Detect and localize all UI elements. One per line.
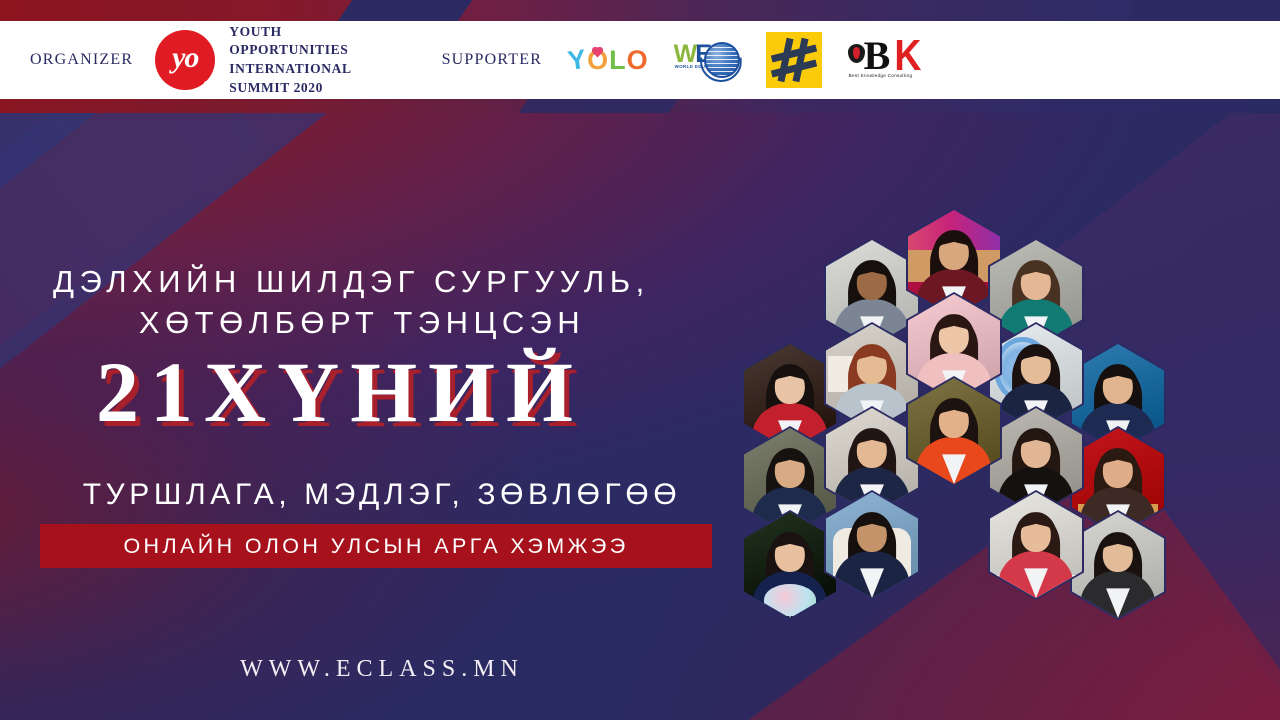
sub-headline: ТУРШЛАГА, МЭДЛЭГ, ЗӨВЛӨГӨӨ (22, 478, 742, 512)
collage-hexagon (824, 490, 920, 600)
collage-hexagon (906, 376, 1002, 486)
collage-photo (990, 492, 1082, 598)
ribbon-text: ОНЛАЙН ОЛОН УЛСЫН АРГА ХЭМЖЭЭ (123, 534, 628, 559)
bouquet-shape (764, 584, 816, 616)
headline-block: ДЭЛХИЙН ШИЛДЭГ СУРГУУЛЬ, ХӨТӨЛБӨРТ ТЭНЦС… (0, 0, 760, 720)
bk-consulting-logo-icon: B K Best Knowledge Consulting (846, 32, 926, 88)
shield-icon (848, 44, 865, 63)
hashtag-logo-icon (766, 32, 822, 88)
bk-tagline: Best Knowledge Consulting (849, 73, 913, 78)
participant-photo-collage (742, 196, 1270, 666)
collage-photo (826, 492, 918, 598)
headline-line-2: ХӨТӨЛБӨРТ ТЭНЦСЭН (53, 303, 743, 344)
bk-letter-b: B (864, 36, 891, 76)
big-number-headline: 21ХҮНИЙ (96, 344, 736, 440)
collage-hexagon (988, 490, 1084, 600)
headline-line-1: ДЭЛХИЙН ШИЛДЭГ СУРГУУЛЬ, (53, 264, 650, 299)
collage-hexagon (1070, 510, 1166, 620)
website-url: WWW.ECLASS.MN (22, 656, 742, 683)
collage-photo (1072, 512, 1164, 618)
top-strip-wedge-right (1130, 0, 1280, 21)
headline-lines: ДЭЛХИЙН ШИЛДЭГ СУРГУУЛЬ, ХӨТӨЛБӨРТ ТЭНЦС… (53, 262, 743, 344)
bk-letter-k: K (894, 34, 921, 78)
poster-canvas: ORGANIZER yo YOUTH OPPORTUNITIES INTERNA… (0, 0, 1280, 720)
collage-photo (908, 378, 1000, 484)
hashtag-stroke-v2 (792, 38, 808, 82)
event-type-ribbon: ОНЛАЙН ОЛОН УЛСЫН АРГА ХЭМЖЭЭ (40, 524, 712, 568)
